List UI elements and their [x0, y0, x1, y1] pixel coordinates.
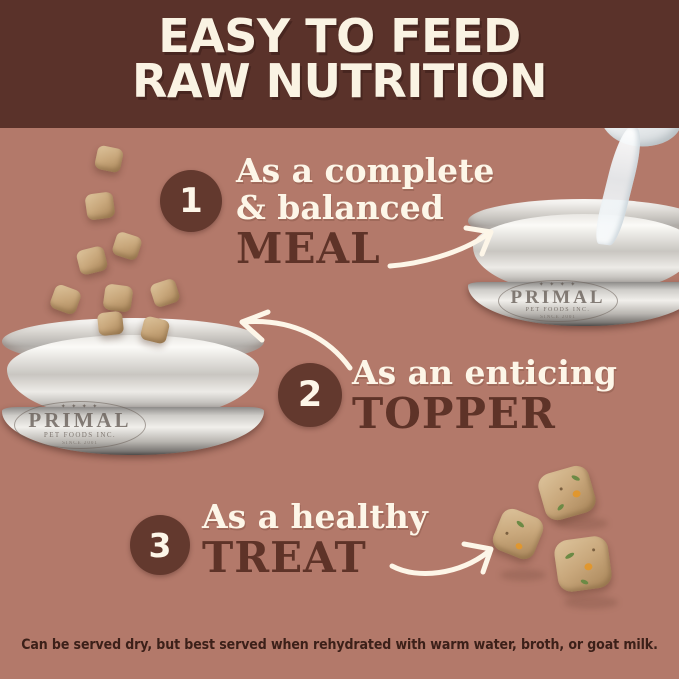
step-badge-3: 3 — [130, 515, 190, 575]
step-badge-1: 1 — [160, 170, 222, 232]
steps-layer: 1 As a complete & balanced MEAL 2 As an … — [0, 0, 679, 679]
step-1-script-line-2: & balanced — [236, 191, 494, 224]
step-number-3: 3 — [149, 526, 172, 565]
step-text-2: As an enticing TOPPER — [352, 356, 617, 435]
footer-caption: Can be served dry, but best served when … — [0, 637, 679, 653]
infographic-canvas: ✦ ✦ ✦ ✦ PRIMAL PET FOODS INC. SINCE 2001 — [0, 0, 679, 679]
step-1-script-line-1: As a complete — [236, 154, 494, 187]
step-2-script-line-1: As an enticing — [352, 356, 617, 389]
step-badge-2: 2 — [278, 363, 342, 427]
step-2-keyword: TOPPER — [352, 393, 617, 435]
curved-arrow-right-icon — [390, 538, 502, 584]
step-number-1: 1 — [179, 181, 203, 221]
curved-arrow-left-icon — [238, 310, 354, 372]
step-3-script-line-1: As a healthy — [202, 500, 428, 533]
step-number-2: 2 — [298, 375, 322, 415]
curved-arrow-right-icon — [388, 224, 504, 272]
